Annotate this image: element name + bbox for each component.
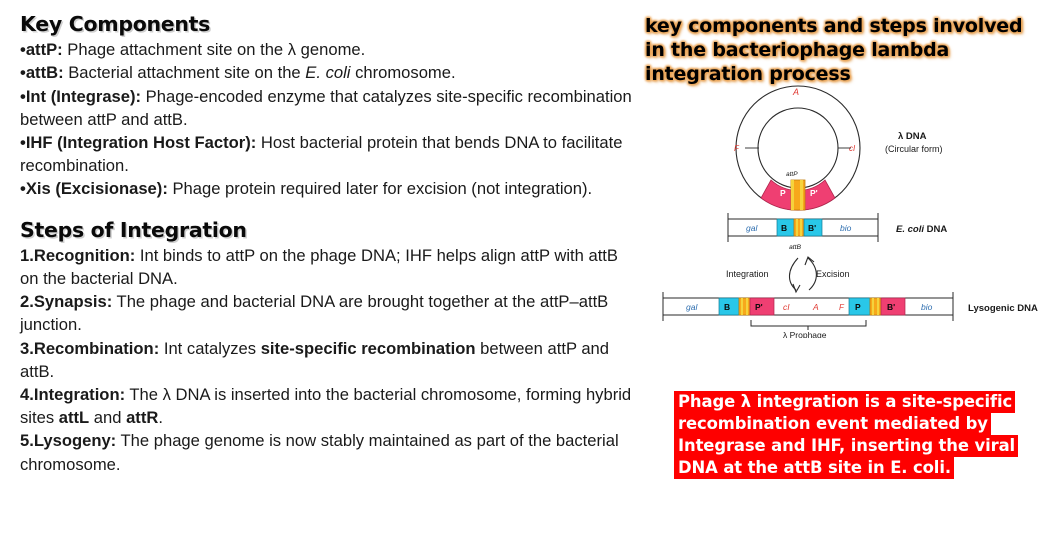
svg-text:P': P'	[810, 188, 818, 198]
svg-text:A: A	[792, 87, 799, 97]
svg-text:P': P'	[755, 302, 763, 312]
svg-text:attB: attB	[789, 244, 802, 251]
step-item-synapsis: 2.Synapsis: The phage and bacterial DNA …	[20, 290, 640, 336]
conclusion-line: Phage λ integration is a site-specific	[674, 391, 1015, 413]
svg-text:B': B'	[887, 302, 895, 312]
component-item-ihf: •IHF (Integration Host Factor): Host bac…	[20, 131, 640, 177]
step-number: 3.	[20, 339, 34, 358]
step-number: 5.	[20, 431, 34, 450]
step-term: Synapsis:	[34, 292, 112, 311]
step-item-integration: 4.Integration: The λ DNA is inserted int…	[20, 383, 640, 429]
conclusion-highlight-box: Phage λ integration is a site-specific r…	[674, 391, 1063, 479]
component-item-int: •Int (Integrase): Phage-encoded enzyme t…	[20, 85, 640, 131]
svg-text:B: B	[724, 302, 730, 312]
svg-text:attP: attP	[786, 171, 798, 178]
svg-text:P: P	[855, 302, 861, 312]
component-text-post: chromosome.	[350, 63, 455, 82]
ecoli-dna-bar: gal B B' bio attB	[728, 213, 878, 251]
step-term: Recognition:	[34, 246, 135, 265]
lambda-integration-diagram: P P' attP A F cI λ DNA (Circular form)	[653, 76, 1063, 338]
svg-text:B': B'	[808, 223, 816, 233]
lambda-dna-caption-line1: λ DNA	[898, 131, 927, 142]
step-text-mid: and	[89, 408, 126, 427]
step-number: 4.	[20, 385, 34, 404]
integration-label: Integration	[726, 269, 769, 279]
step-item-recombination: 3.Recombination: Int catalyzes site-spec…	[20, 337, 640, 383]
step-number: 1.	[20, 246, 34, 265]
prophage-bracket-label: λ Prophage	[783, 330, 827, 338]
component-item-attb: •attB: Bacterial attachment site on the …	[20, 61, 640, 84]
integration-excision-arrows: Integration Excision	[726, 257, 850, 292]
svg-text:bio: bio	[921, 302, 933, 312]
lysogenic-dna-caption: Lysogenic DNA	[968, 303, 1038, 314]
step-number: 2.	[20, 292, 34, 311]
component-text: Phage attachment site on the λ genome.	[63, 40, 366, 59]
svg-text:B: B	[781, 223, 787, 233]
component-term: attP:	[26, 40, 63, 59]
svg-text:gal: gal	[686, 302, 698, 312]
ecoli-dna-caption: E. coli DNA	[896, 224, 947, 235]
lambda-dna-caption-line2: (Circular form)	[885, 144, 943, 154]
step-item-recognition: 1.Recognition: Int binds to attP on the …	[20, 244, 640, 290]
lysogenic-dna-bar: gal B P' cI A F P B' bio λ Prophage	[663, 292, 953, 338]
component-term: Int (Integrase):	[26, 87, 141, 106]
component-term: attB:	[26, 63, 64, 82]
svg-text:bio: bio	[840, 223, 852, 233]
component-text: Phage protein required later for excisio…	[168, 179, 592, 198]
svg-text:A: A	[812, 302, 819, 312]
step-text-pre: Int catalyzes	[159, 339, 260, 358]
component-item-attp: •attP: Phage attachment site on the λ ge…	[20, 38, 640, 61]
svg-text:cI: cI	[849, 144, 856, 153]
step-text-attr: attR	[126, 408, 158, 427]
conclusion-line: DNA at the attB site in E. coli.	[674, 457, 954, 479]
conclusion-line: Integrase and IHF, inserting the viral	[674, 435, 1018, 457]
component-term: Xis (Excisionase):	[26, 179, 168, 198]
component-item-xis: •Xis (Excisionase): Phage protein requir…	[20, 177, 640, 200]
component-text-italic: E. coli	[305, 63, 350, 82]
step-text-attl: attL	[59, 408, 89, 427]
component-text-pre: Bacterial attachment site on the	[64, 63, 306, 82]
step-item-lysogeny: 5.Lysogeny: The phage genome is now stab…	[20, 429, 640, 475]
page-title-key-components: Key Components	[20, 12, 640, 36]
right-column: key components and steps involved in the…	[645, 14, 1063, 534]
excision-label: Excision	[816, 269, 850, 279]
left-text-column: Key Components •attP: Phage attachment s…	[20, 12, 640, 532]
step-term: Recombination:	[34, 339, 159, 358]
svg-text:gal: gal	[746, 223, 758, 233]
step-term: Integration:	[34, 385, 125, 404]
step-text-post: .	[158, 408, 163, 427]
svg-text:P: P	[780, 188, 786, 198]
step-text-emphasis: site-specific recombination	[261, 339, 476, 358]
svg-text:cI: cI	[783, 302, 790, 312]
page-title-steps-of-integration: Steps of Integration	[20, 218, 640, 242]
circular-lambda-dna-icon: P P' attP A F cI	[734, 86, 860, 210]
conclusion-line: recombination event mediated by	[674, 413, 991, 435]
component-term: IHF (Integration Host Factor):	[26, 133, 256, 152]
step-term: Lysogeny:	[34, 431, 116, 450]
